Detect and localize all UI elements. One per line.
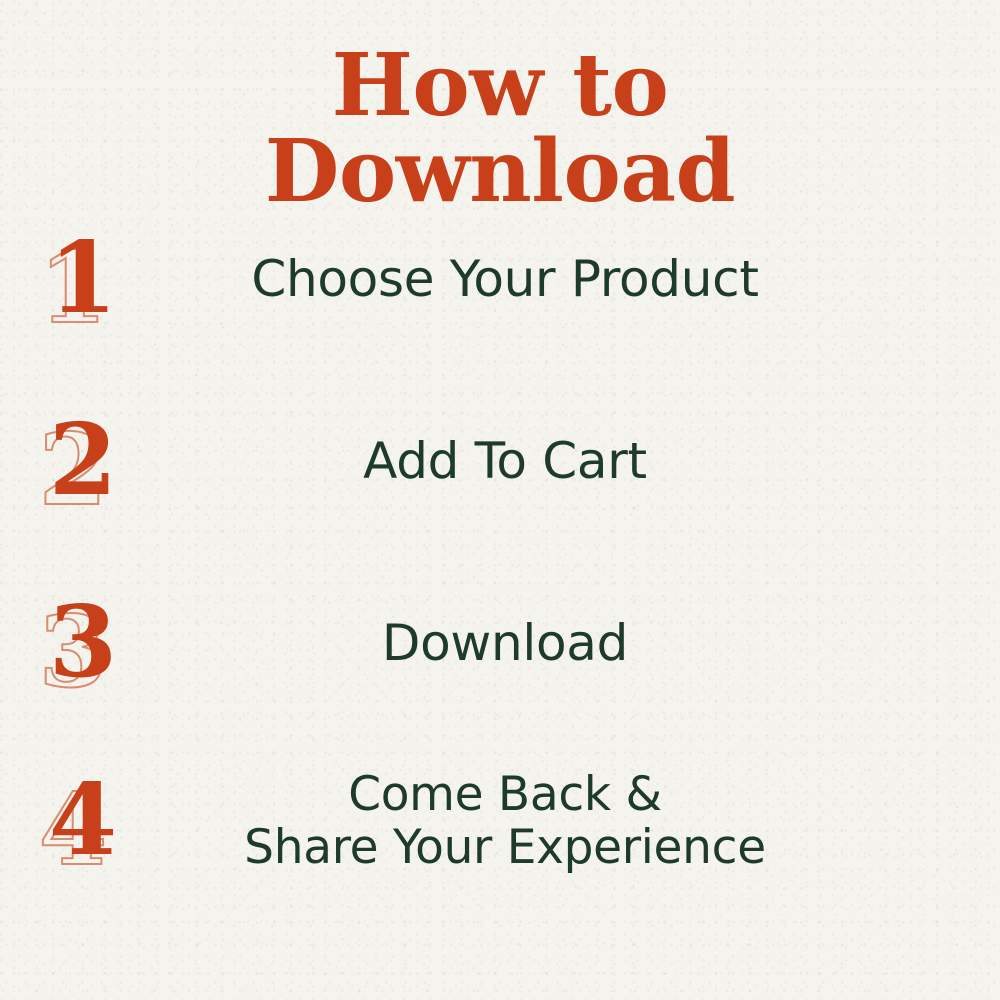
step-number-4: 4 4 <box>22 752 142 892</box>
step-label-1-line-1: Choose Your Product <box>251 253 758 307</box>
how-to-download-poster: How to Download 1 1 Choose Your Product … <box>0 0 1000 1000</box>
step-number-3-fill: 3 <box>23 573 143 713</box>
step-label-2: Add To Cart <box>150 392 860 532</box>
page-title-line-1: How to <box>0 44 1000 128</box>
step-label-3: Download <box>150 574 860 714</box>
step-row-2: 2 2 Add To Cart <box>0 392 1000 532</box>
step-number-2: 2 2 <box>22 392 142 532</box>
page-title-line-2: Download <box>0 130 1000 214</box>
step-label-3-line-1: Download <box>382 617 628 671</box>
step-number-1: 1 1 <box>22 210 142 350</box>
step-number-2-fill: 2 <box>23 391 143 531</box>
step-label-2-line-1: Add To Cart <box>363 435 647 489</box>
step-label-4-line-1: Come Back & <box>348 769 662 822</box>
step-label-4-line-2: Share Your Experience <box>244 822 766 875</box>
step-label-4: Come Back & Share Your Experience <box>150 752 860 892</box>
step-label-1: Choose Your Product <box>150 210 860 350</box>
step-number-4-fill: 4 <box>23 751 143 891</box>
step-row-3: 3 3 Download <box>0 574 1000 714</box>
page-title: How to Download <box>0 44 1000 215</box>
step-number-1-fill: 1 <box>23 209 143 349</box>
step-row-4: 4 4 Come Back & Share Your Experience <box>0 752 1000 892</box>
step-number-3: 3 3 <box>22 574 142 714</box>
step-row-1: 1 1 Choose Your Product <box>0 210 1000 350</box>
